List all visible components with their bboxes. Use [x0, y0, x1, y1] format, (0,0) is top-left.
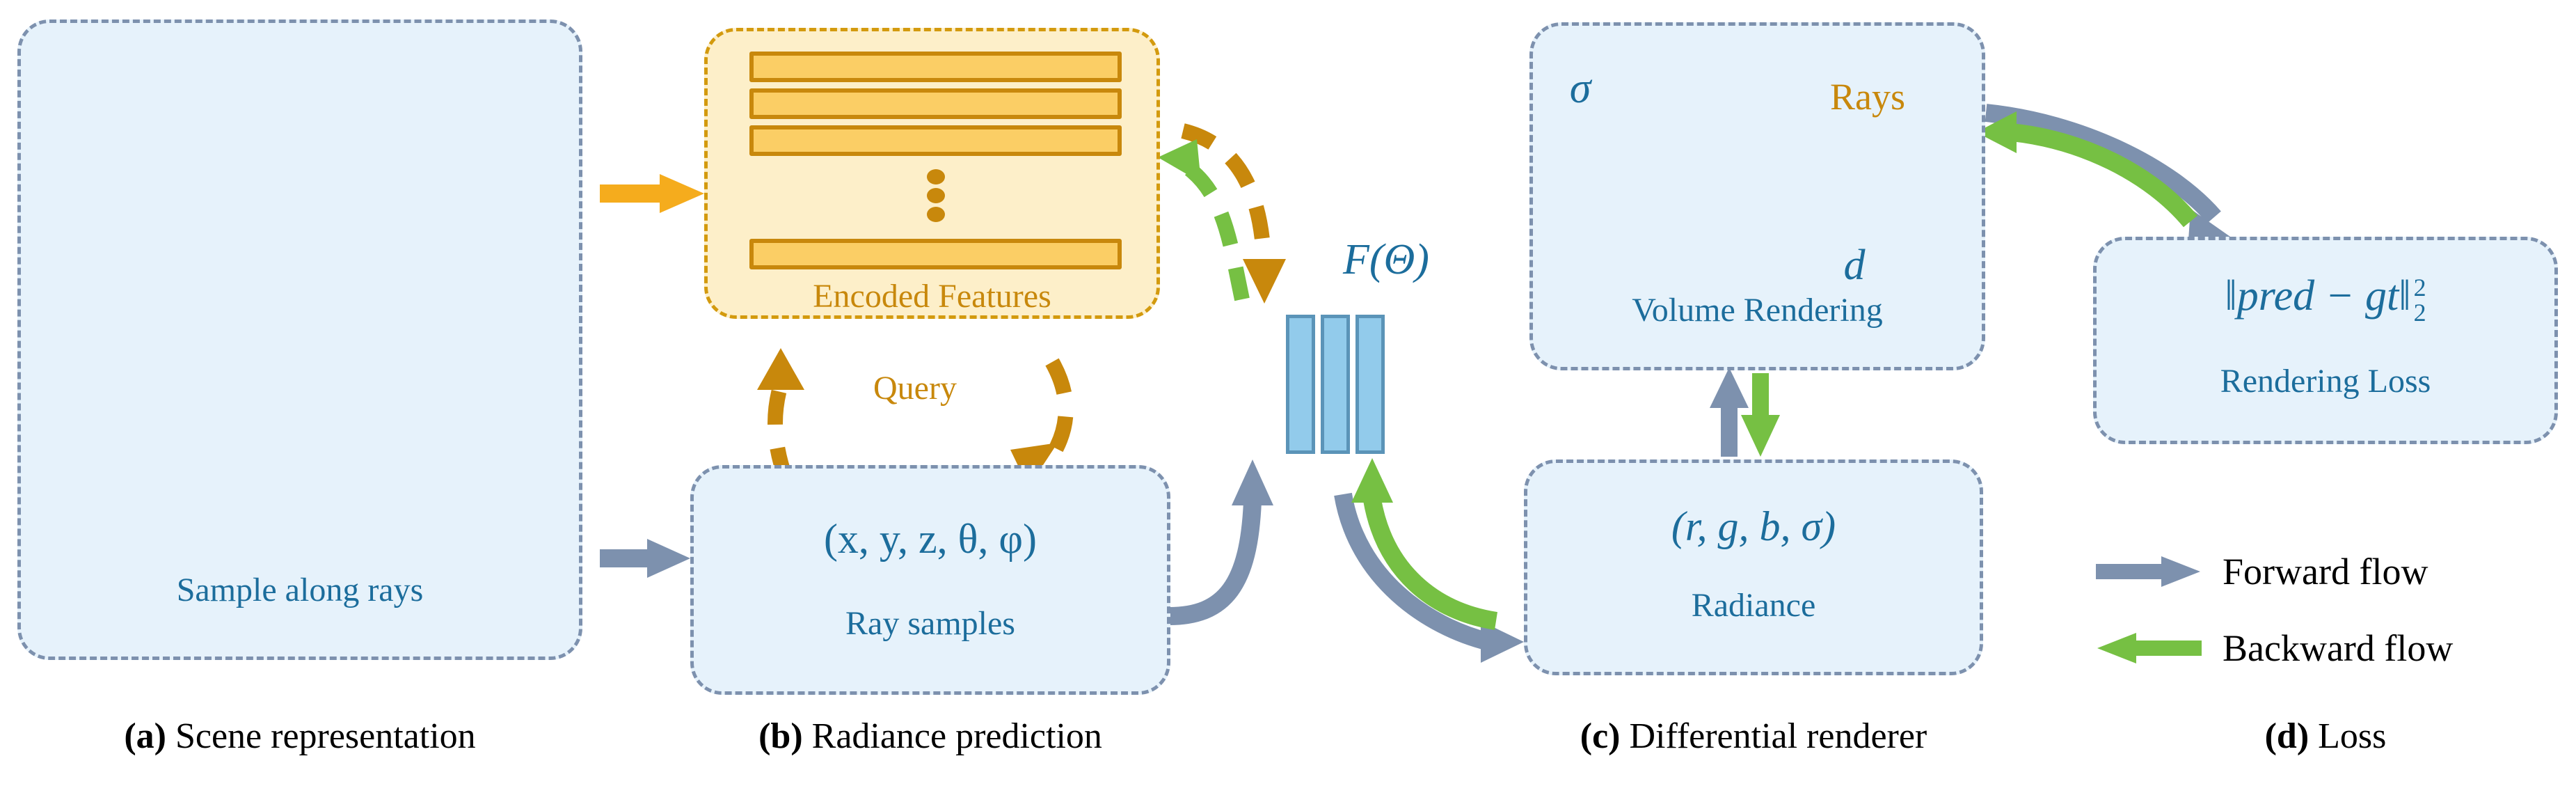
- ray-samples-label: Ray samples: [690, 604, 1170, 643]
- scene-representation-box: [17, 19, 582, 660]
- mlp-label: F(Θ): [1343, 235, 1496, 285]
- feature-bar: [749, 52, 1122, 82]
- feature-bar: [749, 88, 1122, 119]
- loss-body: pred − gt: [2237, 272, 2399, 320]
- panel-caption-d: (d) Loss: [2093, 716, 2558, 757]
- arrow-mlp-to-radiance: [1343, 494, 1524, 663]
- norm-close-bar: ‖: [2399, 272, 2410, 320]
- query-label: Query: [821, 369, 1009, 407]
- figure-canvas: Sample along rays Encoded Features Query…: [0, 0, 2576, 786]
- arrow-encoded-to-mlp: [1183, 131, 1286, 304]
- mlp-layer-bar: [1355, 315, 1385, 454]
- arrow-left-icon: [2093, 627, 2204, 669]
- norm-open-bar: ‖: [2225, 272, 2236, 320]
- radiance-equation: (r, g, b, σ): [1524, 503, 1983, 551]
- rendering-loss-label: Rendering Loss: [2093, 362, 2558, 400]
- arrow-scene-to-ray-samples: [600, 539, 690, 578]
- arrow-loss-to-volume-rendering-backward: [1976, 111, 2191, 221]
- arrow-query-up: [757, 348, 804, 480]
- arrow-ray-samples-to-mlp: [1169, 459, 1273, 616]
- legend-row-forward: Forward flow: [2093, 550, 2428, 593]
- arrow-volume-rendering-to-loss: [1986, 113, 2232, 251]
- panel-marker-a: (a): [124, 716, 166, 756]
- feature-bar: [749, 239, 1122, 269]
- mlp-layer-bar: [1286, 315, 1315, 454]
- ray-samples-box: [690, 465, 1170, 695]
- arrow-radiance-to-mlp-backward: [1351, 458, 1496, 621]
- encoded-features-label: Encoded Features: [704, 277, 1160, 315]
- panel-text-d: Loss: [2318, 716, 2386, 756]
- arrow-volume-rendering-to-radiance-backward: [1741, 373, 1780, 457]
- panel-text-c: Differential renderer: [1629, 716, 1927, 756]
- panel-caption-c: (c) Differential renderer: [1524, 716, 1983, 757]
- legend-label-forward: Forward flow: [2223, 550, 2428, 593]
- feature-bar: [749, 125, 1122, 156]
- volume-rendering-label: Volume Rendering: [1529, 291, 1985, 329]
- panel-text-b: Radiance prediction: [812, 716, 1102, 756]
- arrow-radiance-to-volume-rendering: [1710, 368, 1749, 457]
- panel-marker-c: (c): [1580, 716, 1621, 756]
- sigma-axis-label: σ: [1556, 64, 1605, 113]
- mlp-layer-bar: [1321, 315, 1350, 454]
- panel-caption-a: (a) Scene representation: [17, 716, 582, 757]
- panel-marker-b: (b): [758, 716, 803, 756]
- arrow-mlp-to-encoded-backward: [1158, 139, 1242, 299]
- radiance-box: [1524, 459, 1983, 675]
- arrow-scene-to-encoded-features: [600, 174, 704, 213]
- legend-label-backward: Backward flow: [2223, 627, 2453, 670]
- rays-curve-label: Rays: [1830, 75, 1976, 118]
- arrow-right-icon: [2093, 551, 2204, 592]
- radiance-label: Radiance: [1524, 586, 1983, 624]
- legend-row-backward: Backward flow: [2093, 627, 2453, 670]
- rendering-loss-equation: ‖pred − gt‖ 2 2: [2093, 272, 2558, 325]
- panel-caption-b: (b) Radiance prediction: [690, 716, 1170, 757]
- panel-marker-d: (d): [2265, 716, 2309, 756]
- ray-samples-equation: (x, y, z, θ, φ): [690, 515, 1170, 563]
- feature-ellipsis-icon: [927, 169, 945, 226]
- d-axis-label: d: [1830, 241, 1879, 290]
- panel-text-a: Scene representation: [175, 716, 476, 756]
- loss-subscript: 2: [2414, 300, 2426, 325]
- loss-superscript: 2: [2414, 275, 2426, 300]
- scene-label: Sample along rays: [17, 571, 582, 609]
- rendering-loss-box: [2093, 237, 2558, 444]
